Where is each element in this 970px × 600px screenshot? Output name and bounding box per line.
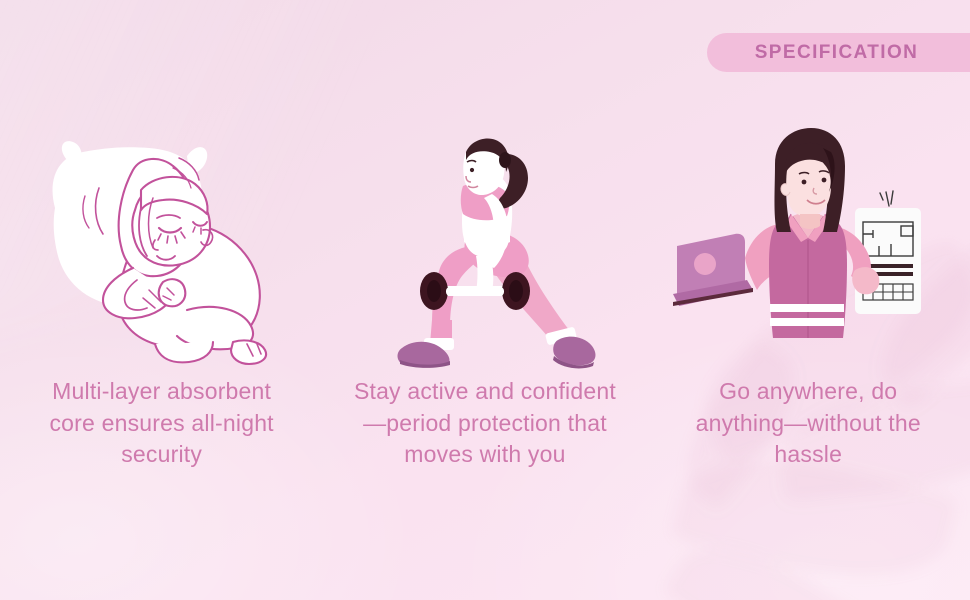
specification-badge: SPECIFICATION bbox=[707, 33, 970, 72]
feature-list: Multi-layer absorbent core ensures all-n… bbox=[0, 130, 970, 471]
caption-line: anything—without the bbox=[663, 408, 953, 440]
caption-line: Multi-layer absorbent bbox=[17, 376, 307, 408]
feature-active-protection: Stay active and confident —period protec… bbox=[323, 130, 646, 471]
specification-panel: SPECIFICATION bbox=[0, 0, 970, 600]
caption-line: Go anywhere, do bbox=[663, 376, 953, 408]
feature-caption-active: Stay active and confident —period protec… bbox=[340, 376, 630, 471]
laptop bbox=[673, 234, 753, 306]
caption-line: Stay active and confident bbox=[340, 376, 630, 408]
caption-line: core ensures all-night bbox=[17, 408, 307, 440]
feature-caption-night: Multi-layer absorbent core ensures all-n… bbox=[17, 376, 307, 471]
caption-line: hassle bbox=[663, 439, 953, 471]
specification-badge-label: SPECIFICATION bbox=[755, 42, 923, 64]
caption-line: security bbox=[17, 439, 307, 471]
feature-caption-anywhere: Go anywhere, do anything—without the has… bbox=[663, 376, 953, 471]
sleeping-woman-icon bbox=[37, 130, 287, 370]
woman-lunge-dumbbell-icon bbox=[360, 130, 610, 370]
woman-laptop-document-icon bbox=[683, 130, 933, 370]
caption-line: —period protection that bbox=[340, 408, 630, 440]
feature-anywhere-protection: Go anywhere, do anything—without the has… bbox=[647, 130, 970, 471]
caption-line: moves with you bbox=[340, 439, 630, 471]
feature-night-protection: Multi-layer absorbent core ensures all-n… bbox=[0, 130, 323, 471]
